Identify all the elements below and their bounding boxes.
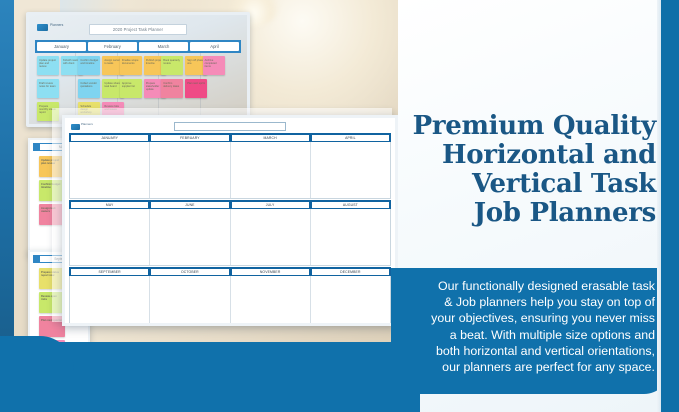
sticky-note: Archive completed items bbox=[203, 56, 225, 75]
sticky-note: Confirm delivery dates bbox=[161, 79, 183, 98]
planner-month-cell[interactable] bbox=[311, 276, 390, 326]
sticky-note: Finalise scope documents bbox=[120, 56, 142, 75]
planner-month-label: JUNE bbox=[151, 202, 228, 208]
logo-text: Planners bbox=[81, 123, 93, 127]
product-photo-collage: Planners 2020 Project Task Planner Janua… bbox=[0, 0, 420, 352]
sticky-note: Update project plan and review bbox=[37, 56, 59, 75]
planner-month-body[interactable] bbox=[69, 276, 391, 326]
planner-month-body[interactable] bbox=[69, 142, 391, 199]
marketing-banner: Planners 2020 Project Task Planner Janua… bbox=[0, 0, 679, 412]
planner-month-cell[interactable] bbox=[231, 276, 311, 326]
logo-mark-icon bbox=[37, 24, 48, 31]
planner-footer bbox=[72, 314, 388, 318]
planner-month-label: MARCH bbox=[232, 135, 309, 141]
whiteboard-logo: Planners bbox=[37, 23, 71, 33]
planner-month-label: AUGUST bbox=[312, 202, 389, 208]
whiteboard-month-cell: February bbox=[88, 42, 137, 51]
planner-month-header: JANUARYFEBRUARYMARCHAPRIL bbox=[69, 133, 391, 142]
planner-month-label: JANUARY bbox=[71, 135, 148, 141]
description-panel: Our functionally designed erasable task&… bbox=[391, 268, 670, 394]
planner-month-cell[interactable] bbox=[150, 142, 230, 198]
sticky-note: Approve supplier list bbox=[120, 79, 142, 98]
whiteboard-title-box: 2020 Project Task Planner bbox=[89, 24, 187, 35]
whiteboard-month-bar: JanuaryFebruaryMarchApril bbox=[35, 40, 241, 53]
planner-month-label: FEBRUARY bbox=[151, 135, 228, 141]
planner-month-cell[interactable] bbox=[70, 209, 150, 265]
planner-title-field[interactable] bbox=[174, 122, 286, 131]
horizontal-planner-card: Planners JANUARYFEBRUARYMARCHAPRILMAYJUN… bbox=[62, 115, 398, 326]
logo-mark-icon bbox=[71, 124, 80, 130]
sticky-note: Draft review notes for team bbox=[37, 79, 59, 98]
planner-month-row: MAYJUNEJULYAUGUST bbox=[69, 200, 391, 266]
planner-month-cell[interactable] bbox=[311, 209, 390, 265]
right-edge-strip bbox=[661, 0, 679, 412]
sticky-note: Book quarterly review bbox=[161, 56, 183, 75]
planner-month-label: DECEMBER bbox=[312, 269, 389, 275]
page-title-line: Vertical Task bbox=[404, 170, 656, 199]
planner-month-row: JANUARYFEBRUARYMARCHAPRIL bbox=[69, 133, 391, 199]
planner-month-label: OCTOBER bbox=[151, 269, 228, 275]
whiteboard-month-cell: April bbox=[190, 42, 239, 51]
planner-month-cell[interactable] bbox=[150, 209, 230, 265]
planner-month-label: APRIL bbox=[312, 135, 389, 141]
planner-month-header: SEPTEMBEROCTOBERNOVEMBERDECEMBER bbox=[69, 267, 391, 276]
description-line: both horizontal and vertical orientation… bbox=[405, 343, 655, 359]
bottom-blue-band-corner bbox=[0, 336, 74, 412]
whiteboard-title-text: 2020 Project Task Planner bbox=[90, 25, 186, 34]
description-line: a beat. With multiple size options and bbox=[405, 327, 655, 343]
whiteboard-month-cell: January bbox=[37, 42, 86, 51]
page-title: Premium QualityHorizontal andVertical Ta… bbox=[404, 112, 656, 228]
planner-month-label: NOVEMBER bbox=[232, 269, 309, 275]
page-title-line: Job Planners bbox=[404, 199, 656, 228]
planner-month-cell[interactable] bbox=[231, 142, 311, 198]
planner-logo: Planners bbox=[71, 123, 101, 131]
logo-text: Planners bbox=[50, 23, 70, 31]
planner-month-cell[interactable] bbox=[150, 276, 230, 326]
planner-month-body[interactable] bbox=[69, 209, 391, 266]
planner-month-cell[interactable] bbox=[70, 142, 150, 198]
description-line: & Job planners help you stay on top of bbox=[405, 294, 655, 310]
photo-left-rail bbox=[0, 0, 14, 352]
description-line: Our functionally designed erasable task bbox=[405, 278, 655, 294]
planner-month-label: MAY bbox=[71, 202, 148, 208]
planner-month-header: MAYJUNEJULYAUGUST bbox=[69, 200, 391, 209]
planner-month-cell[interactable] bbox=[231, 209, 311, 265]
sticky-note: Collect vendor quotations bbox=[78, 79, 100, 98]
planner-month-label: JULY bbox=[232, 202, 309, 208]
description-line: your objectives, ensuring you never miss bbox=[405, 310, 655, 326]
planner-month-label: SEPTEMBER bbox=[71, 269, 148, 275]
planner-month-cell[interactable] bbox=[311, 142, 390, 198]
sticky-note: Confirm budget and timeline bbox=[78, 56, 100, 75]
description-text: Our functionally designed erasable task&… bbox=[405, 278, 655, 375]
description-line: our planners are perfect for any space. bbox=[405, 359, 655, 375]
planner-month-cell[interactable] bbox=[70, 276, 150, 326]
page-title-line: Premium Quality bbox=[404, 112, 656, 141]
whiteboard-month-cell: March bbox=[139, 42, 188, 51]
page-title-line: Horizontal and bbox=[404, 141, 656, 170]
